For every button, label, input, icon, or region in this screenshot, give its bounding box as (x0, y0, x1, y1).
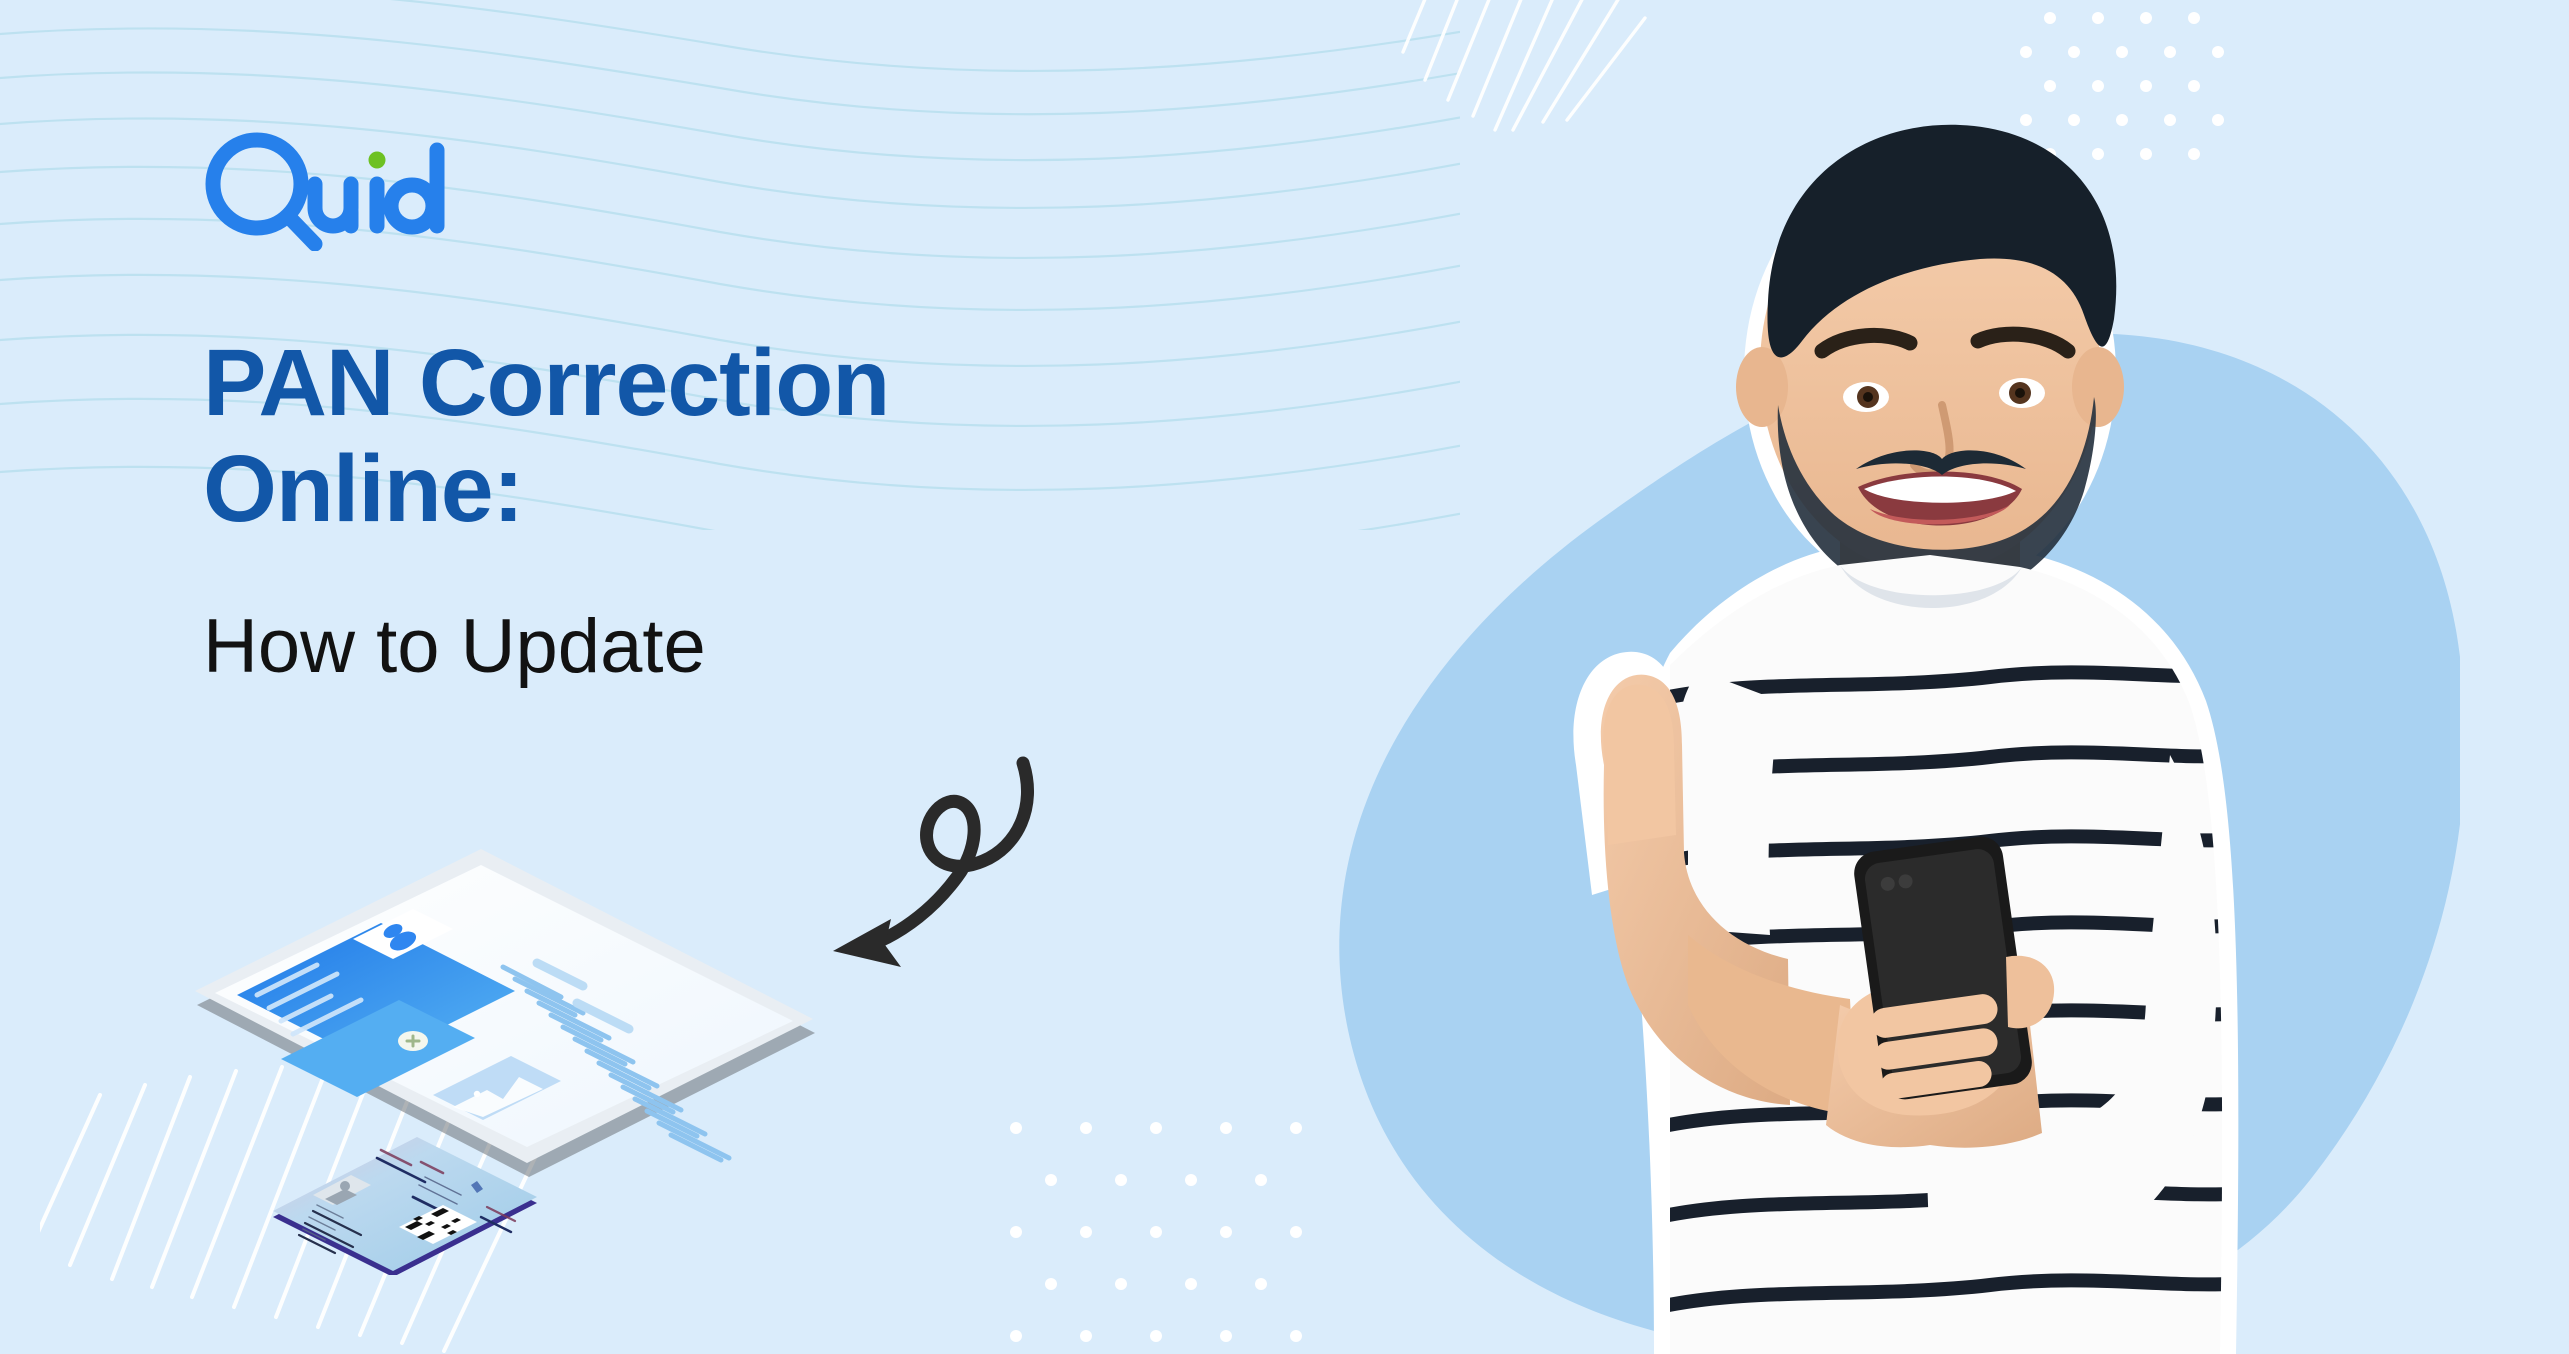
face (1736, 125, 2124, 602)
device-illustration (185, 845, 825, 1275)
logo-green-dot (369, 152, 386, 169)
magnifier-q-icon (213, 140, 315, 244)
add-circle-icon (398, 1031, 428, 1051)
headline-line-2: Online: (203, 436, 1203, 542)
page-subtitle: How to Update (203, 605, 706, 689)
left-content-column: PAN Correction Online: How to Update (0, 0, 1240, 1354)
hero-person-illustration (1370, 105, 2290, 1354)
page-title: PAN Correction Online: (203, 330, 1203, 543)
curly-arrow-down-left-icon (805, 755, 1065, 985)
fingers (1869, 992, 2000, 1100)
hero-banner: PAN Correction Online: How to Update (0, 0, 2569, 1354)
index-finger (1603, 685, 1676, 845)
quid-logo[interactable] (197, 126, 457, 251)
isometric-smartphone (195, 849, 815, 1177)
headline-line-1: PAN Correction (203, 330, 889, 436)
